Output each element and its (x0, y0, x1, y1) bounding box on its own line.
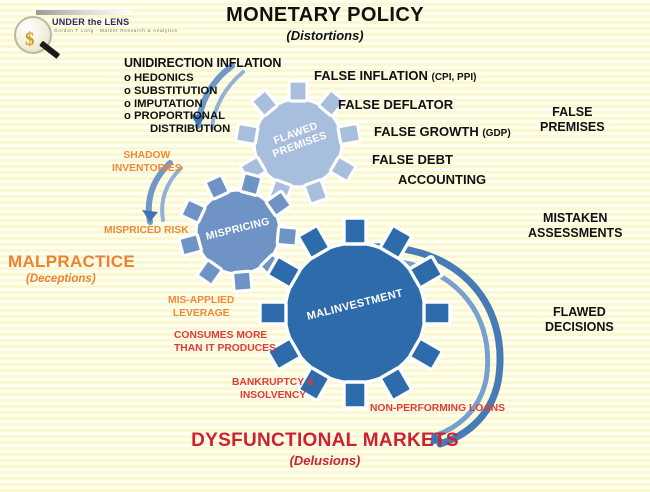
list-item-label: HEDONICS (134, 72, 194, 84)
malpractice-main: MALPRACTICE (8, 252, 135, 272)
list-item-continuation: DISTRIBUTION (124, 123, 281, 136)
right-label-false-premises-line1: FALSE (540, 105, 605, 120)
false-inflation-note: (CPI, PPI) (432, 72, 477, 83)
annotation-consumes-more-line2: THAN IT PRODUCES (174, 343, 276, 356)
malpractice-block: MALPRACTICE (Deceptions) (8, 252, 135, 285)
bottom-title: DYSFUNCTIONAL MARKETS (Delusions) (0, 430, 650, 468)
false-debt-accounting-label: ACCOUNTING (398, 172, 486, 187)
right-label-false-premises: FALSE PREMISES (540, 105, 605, 135)
bottom-title-main: DYSFUNCTIONAL MARKETS (0, 430, 650, 452)
right-label-flawed-decisions: FLAWED DECISIONS (545, 305, 614, 335)
false-inflation-label: FALSE INFLATION (314, 68, 428, 83)
false-growth-note: (GDP) (482, 128, 510, 139)
list-item-label: SUBSTITUTION (134, 85, 217, 97)
malpractice-sub: (Deceptions) (26, 273, 135, 285)
unidirection-list: o HEDONICS o SUBSTITUTION o IMPUTATION o… (124, 72, 281, 136)
bullet-marker: o (124, 110, 131, 123)
annotation-consumes-more: CONSUMES MORE THAN IT PRODUCES (174, 330, 276, 355)
annotation-mis-applied-leverage: MIS-APPLIED LEVERAGE (168, 295, 234, 320)
bullet-marker: o (124, 98, 131, 111)
right-label-false-premises-line2: PREMISES (540, 120, 605, 135)
right-label-mistaken-assessments-line2: ASSESSMENTS (528, 226, 622, 241)
false-debt-accounting-row: ACCOUNTING (398, 172, 486, 187)
list-item: o PROPORTIONAL (124, 110, 281, 123)
unidirection-heading: UNIDIRECTION INFLATION (124, 56, 281, 70)
annotation-mis-applied-leverage-line2: LEVERAGE (168, 308, 234, 321)
bullet-marker: o (124, 72, 131, 85)
annotation-bankruptcy-insolvency-line2: INSOLVENCY (232, 390, 314, 403)
annotation-non-performing-loans: NON-PERFORMING LOANS (370, 403, 505, 416)
arrowhead-left-mid (142, 210, 158, 222)
annotation-bankruptcy-insolvency: BANKRUPTCY & INSOLVENCY (232, 377, 314, 402)
false-growth-label: FALSE GROWTH (374, 124, 479, 139)
unidirection-block: UNIDIRECTION INFLATION o HEDONICS o SUBS… (124, 56, 281, 136)
false-deflator-label: FALSE DEFLATOR (338, 97, 453, 112)
list-item: o SUBSTITUTION (124, 85, 281, 98)
annotation-consumes-more-line1: CONSUMES MORE (174, 330, 276, 343)
slide-canvas: UNDER the LENS Gordon T Long · Market Re… (0, 0, 650, 492)
arc-mid-left-inner (162, 168, 181, 220)
annotation-shadow-inventories-line2: INVENTORIES (112, 163, 182, 176)
false-deflator-row: FALSE DEFLATOR (338, 97, 453, 112)
right-label-mistaken-assessments: MISTAKEN ASSESSMENTS (528, 211, 622, 241)
list-item: o HEDONICS (124, 72, 281, 85)
right-label-flawed-decisions-line1: FLAWED (545, 305, 614, 320)
list-item-label: PROPORTIONAL (134, 110, 225, 122)
annotation-mispriced-risk-line1: MISPRICED RISK (104, 225, 189, 238)
annotation-shadow-inventories: SHADOW INVENTORIES (112, 150, 182, 175)
list-item: o IMPUTATION (124, 98, 281, 111)
annotation-mispriced-risk: MISPRICED RISK (104, 225, 189, 238)
right-label-flawed-decisions-line2: DECISIONS (545, 320, 614, 335)
annotation-shadow-inventories-line1: SHADOW (112, 150, 182, 163)
false-growth-row: FALSE GROWTH (GDP) (374, 124, 511, 139)
bottom-title-sub: (Delusions) (0, 453, 650, 468)
annotation-mis-applied-leverage-line1: MIS-APPLIED (168, 295, 234, 308)
false-debt-label: FALSE DEBT (372, 152, 453, 167)
false-inflation-row: FALSE INFLATION (CPI, PPI) (314, 68, 477, 83)
false-debt-row: FALSE DEBT (372, 152, 453, 167)
list-item-label: IMPUTATION (134, 98, 203, 110)
right-label-mistaken-assessments-line1: MISTAKEN (528, 211, 622, 226)
bullet-marker: o (124, 85, 131, 98)
annotation-non-performing-loans-line1: NON-PERFORMING LOANS (370, 403, 505, 416)
annotation-bankruptcy-insolvency-line1: BANKRUPTCY & (232, 377, 314, 390)
